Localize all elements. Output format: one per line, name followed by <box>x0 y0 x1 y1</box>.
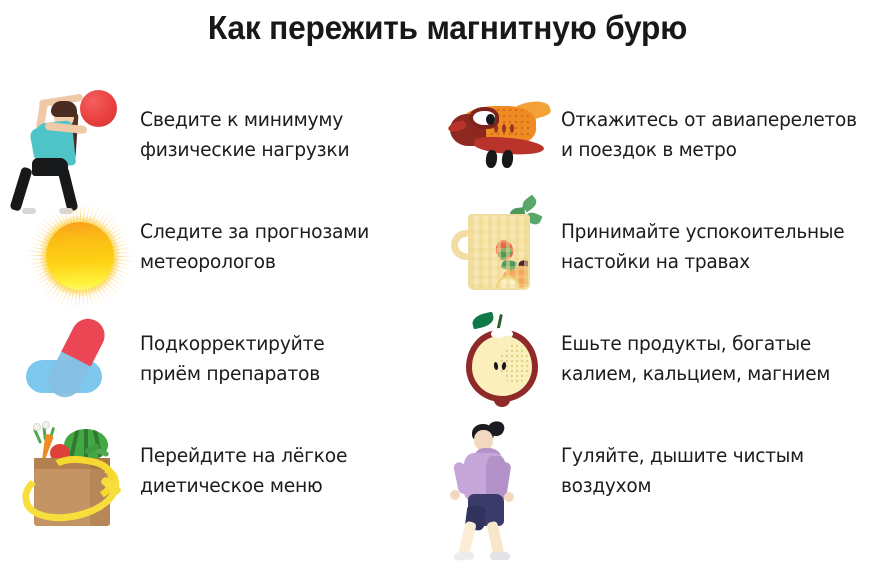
list-item: Откажитесь от авиаперелетов и поездок в … <box>448 84 895 196</box>
right-column: Откажитесь от авиаперелетов и поездок в … <box>448 84 895 532</box>
list-item-label: Сведите к минимуму физические нагрузки <box>140 84 437 165</box>
woman-exercising-with-ball-icon <box>18 84 140 196</box>
list-item-label: Откажитесь от авиаперелетов и поездок в … <box>561 84 883 165</box>
list-item: Следите за прогнозами метеорологов <box>18 196 448 308</box>
left-column: Сведите к минимуму физические нагрузки С… <box>18 84 448 532</box>
sun-icon <box>18 196 140 308</box>
airplane-icon <box>448 84 561 196</box>
list-item: Гуляйте, дышите чистым воздухом <box>448 420 895 532</box>
list-item: Ешьте продукты, богатые калием, кальцием… <box>448 308 895 420</box>
infographic-poster: Как пережить магнитную бурю <box>0 0 895 560</box>
list-item-label: Подкорректируйте приём препаратов <box>140 308 437 389</box>
walking-person-icon <box>448 420 561 532</box>
list-item-label: Гуляйте, дышите чистым воздухом <box>561 420 883 501</box>
list-item-label: Принимайте успокоительные настойки на тр… <box>561 196 883 277</box>
herbal-tea-mug-icon <box>448 196 561 308</box>
list-item: Подкорректируйте приём препаратов <box>18 308 448 420</box>
list-item: Сведите к минимуму физические нагрузки <box>18 84 448 196</box>
grocery-bag-with-measuring-tape-icon <box>18 420 140 532</box>
list-item: Перейдите на лёгкое диетическое меню <box>18 420 448 532</box>
page-title: Как пережить магнитную бурю <box>18 7 877 49</box>
pills-capsules-icon <box>18 308 140 420</box>
list-item: Принимайте успокоительные настойки на тр… <box>448 196 895 308</box>
list-item-label: Следите за прогнозами метеорологов <box>140 196 437 277</box>
list-item-label: Ешьте продукты, богатые калием, кальцием… <box>561 308 883 389</box>
apple-half-icon <box>448 308 561 420</box>
list-item-label: Перейдите на лёгкое диетическое меню <box>140 420 437 501</box>
